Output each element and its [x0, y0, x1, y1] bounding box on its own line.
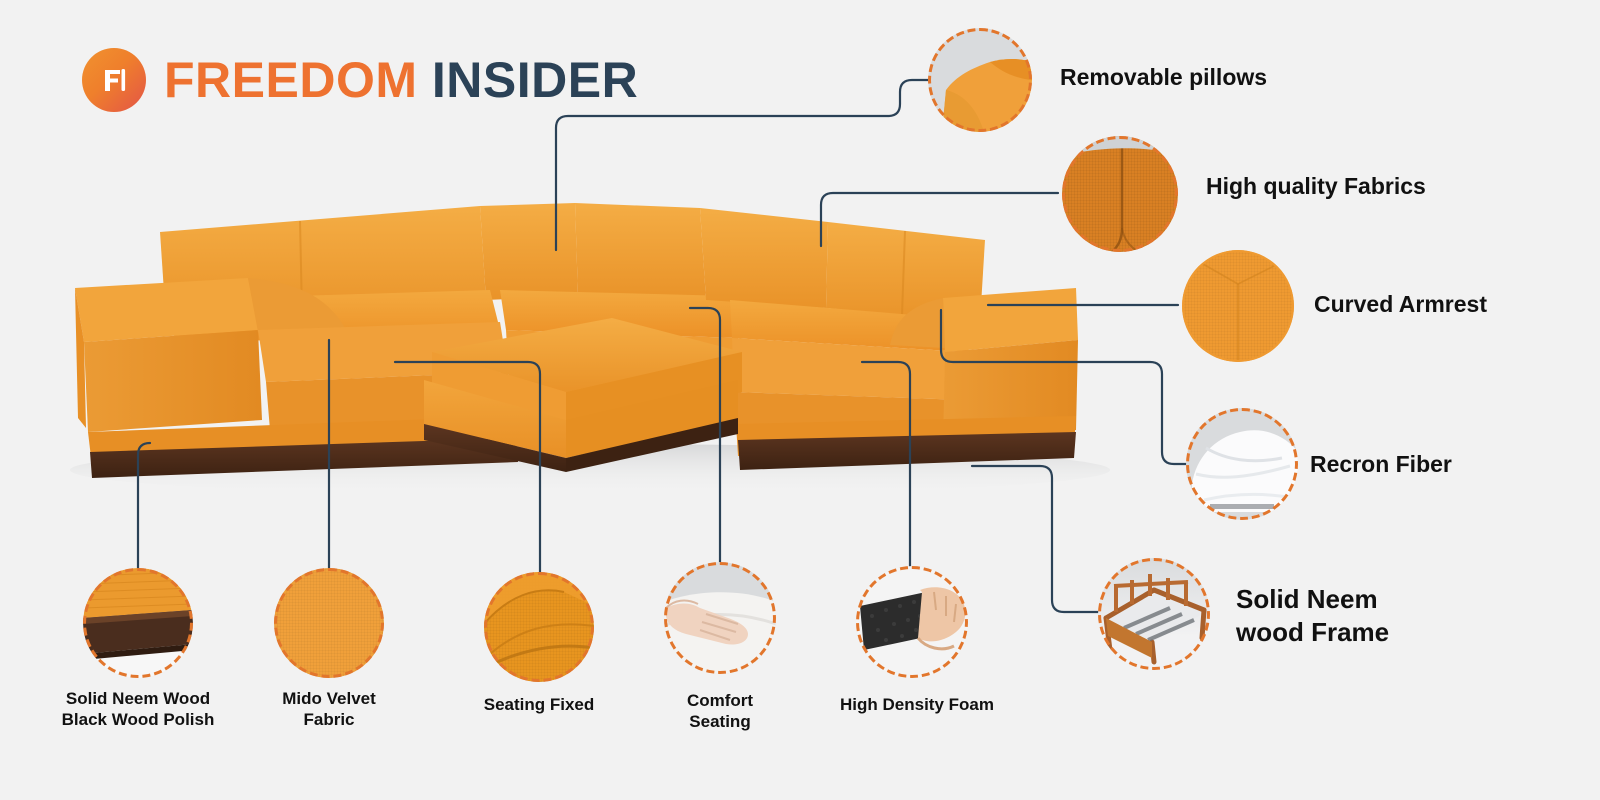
callout-bubble-high-density-foam[interactable]	[856, 566, 968, 678]
wooden-sofa-frame-art	[1098, 558, 1210, 670]
seat-cushion-corner-art	[484, 572, 594, 682]
callout-bubble-mido-velvet-fabric[interactable]	[274, 568, 384, 678]
callout-label-removable-pillows: Removable pillows	[1060, 63, 1267, 92]
connector-comfort-seating	[690, 308, 720, 572]
connector-solid-neem-wood-black-polish	[138, 443, 150, 578]
callout-bubble-recron-fiber[interactable]	[1186, 408, 1298, 520]
curved-armrest-art	[1182, 250, 1294, 362]
callout-bubble-seating-fixed[interactable]	[484, 572, 594, 682]
connector-high-density-foam	[862, 362, 910, 570]
connector-lines	[0, 0, 1600, 800]
callout-label-seating-fixed: Seating Fixed	[429, 694, 649, 715]
brand-title-freedom: FREEDOM	[164, 52, 418, 108]
callout-label-solid-neem-wood-frame: Solid Neem wood Frame	[1236, 583, 1389, 648]
callout-bubble-comfort-seating[interactable]	[664, 562, 776, 674]
page-title: FREEDOM INSIDER	[164, 55, 638, 105]
connector-solid-neem-wood-frame	[972, 466, 1100, 612]
infographic-canvas: FREEDOM INSIDER Removable pillows High q…	[0, 0, 1600, 800]
callout-bubble-solid-neem-wood-frame[interactable]	[1098, 558, 1210, 670]
callout-bubble-removable-pillows[interactable]	[928, 28, 1032, 132]
brand-title-insider: INSIDER	[432, 52, 638, 108]
callout-bubble-solid-neem-wood-black-polish[interactable]	[83, 568, 193, 678]
callout-label-mido-velvet-fabric: Mido Velvet Fabric	[229, 688, 429, 731]
connector-seating-fixed	[395, 362, 540, 580]
callout-label-curved-armrest: Curved Armrest	[1314, 290, 1487, 319]
callout-label-high-quality-fabrics: High quality Fabrics	[1206, 172, 1426, 201]
callout-label-high-density-foam: High Density Foam	[787, 694, 1047, 715]
wood-polish-edge-art	[83, 568, 193, 678]
callout-bubble-high-quality-fabrics[interactable]	[1062, 136, 1178, 252]
recron-fiber-art	[1186, 408, 1298, 520]
freedom-f-monogram-icon	[82, 48, 146, 112]
callout-bubble-curved-armrest[interactable]	[1182, 250, 1294, 362]
removable-pillows-art	[928, 28, 1032, 132]
callout-label-solid-neem-wood-black-polish: Solid Neem Wood Black Wood Polish	[23, 688, 253, 731]
callout-label-recron-fiber: Recron Fiber	[1310, 450, 1452, 479]
connector-high-quality-fabrics	[821, 193, 1058, 246]
connector-recron-fiber	[941, 310, 1186, 464]
plain-orange-fabric-art	[274, 568, 384, 678]
high-quality-fabrics-art	[1062, 136, 1178, 252]
brand-header: FREEDOM INSIDER	[82, 48, 638, 112]
hand-holding-black-foam-art	[856, 566, 968, 678]
hand-pressing-foam-art	[664, 562, 776, 674]
